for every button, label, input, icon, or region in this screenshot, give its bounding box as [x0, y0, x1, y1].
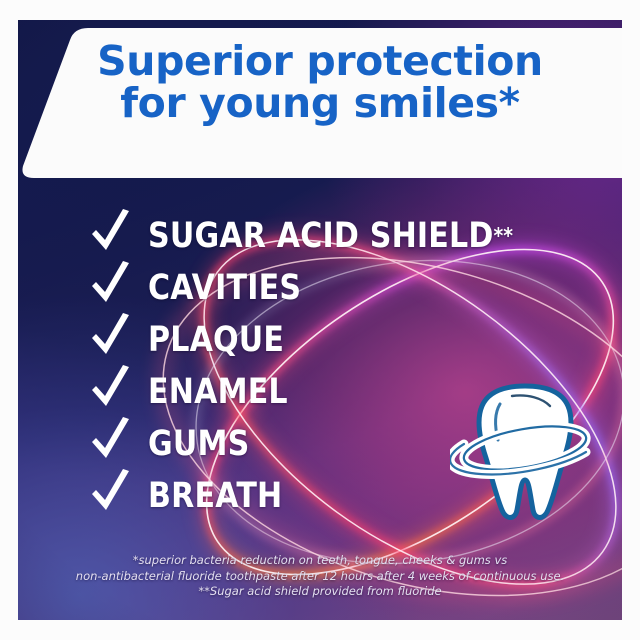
advertisement-image: Superior protection for young smiles* SU…: [0, 0, 640, 640]
benefit-label: GUMS: [148, 418, 249, 470]
benefit-label: PLAQUE: [148, 314, 284, 366]
benefit-label: ENAMEL: [148, 366, 288, 418]
artboard: Superior protection for young smiles* SU…: [18, 20, 622, 620]
check-icon: [88, 468, 136, 518]
headline-line-2: for young smiles*: [18, 84, 622, 123]
page-title: Superior protection for young smiles*: [18, 42, 622, 124]
footnote-block: *superior bacteria reduction on teeth, t…: [18, 553, 622, 600]
check-icon: [88, 312, 136, 362]
headline-banner: Superior protection for young smiles*: [18, 20, 622, 182]
list-item: CAVITIES: [88, 262, 608, 314]
footnote-marker: **: [494, 224, 514, 249]
check-icon: [88, 260, 136, 310]
check-icon: [88, 208, 136, 258]
footnote-line-3: **Sugar acid shield provided from fluori…: [18, 584, 622, 600]
benefit-label: BREATH: [148, 470, 282, 522]
list-item: SUGAR ACID SHIELD**: [88, 210, 608, 262]
footnote-line-1: *superior bacteria reduction on teeth, t…: [18, 553, 622, 569]
check-icon: [88, 416, 136, 466]
headline-line-1: Superior protection: [18, 42, 622, 81]
list-item: PLAQUE: [88, 314, 608, 366]
benefit-label: SUGAR ACID SHIELD**: [148, 210, 513, 262]
tooth-with-orbit-icon: [450, 370, 600, 530]
check-icon: [88, 364, 136, 414]
footnote-line-2: non-antibacterial fluoride toothpaste af…: [18, 569, 622, 585]
benefit-label: CAVITIES: [148, 262, 301, 314]
